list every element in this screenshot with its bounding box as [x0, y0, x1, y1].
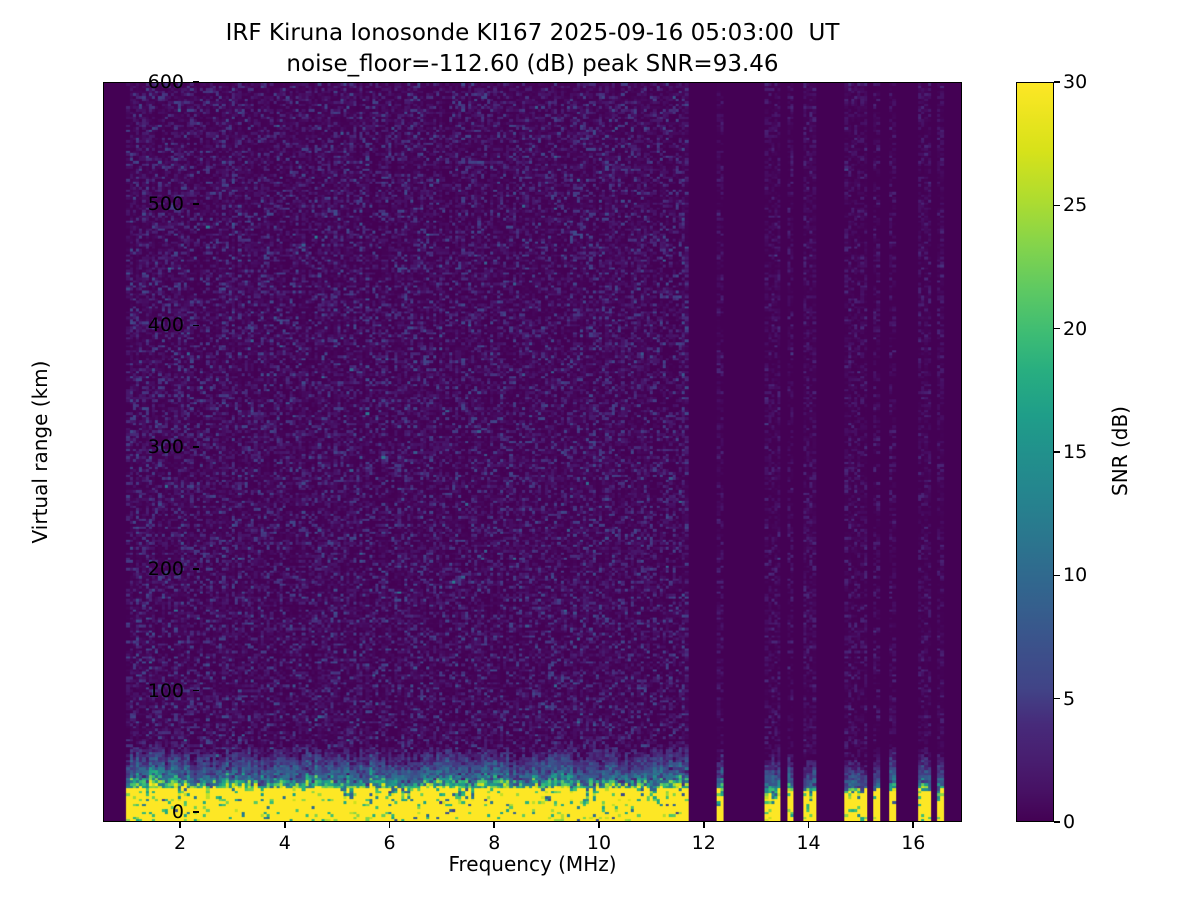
- colorbar-tick-mark: [1054, 81, 1060, 83]
- x-axis-label: Frequency (MHz): [103, 852, 962, 876]
- y-tick-label: 100: [148, 679, 184, 703]
- y-tick-mark: [193, 446, 199, 448]
- colorbar-tick-mark: [1054, 205, 1060, 207]
- colorbar-tick-label: 10: [1063, 563, 1087, 587]
- x-tick-mark: [179, 822, 181, 828]
- colorbar-label: SNR (dB): [1108, 406, 1132, 496]
- y-tick-mark: [193, 690, 199, 692]
- y-tick-mark: [193, 325, 199, 327]
- y-tick-mark: [193, 81, 199, 83]
- y-tick-mark: [193, 568, 199, 570]
- y-axis-label: Virtual range (km): [28, 361, 52, 544]
- y-tick-label: 200: [148, 557, 184, 581]
- y-tick-mark: [193, 203, 199, 205]
- x-tick-mark: [808, 822, 810, 828]
- y-tick-label: 300: [148, 435, 184, 459]
- x-tick-mark: [598, 822, 600, 828]
- colorbar-tick-label: 30: [1063, 70, 1087, 94]
- ionogram-figure: IRF Kiruna Ionosonde KI167 2025-09-16 05…: [0, 0, 1200, 900]
- colorbar-tick-mark: [1054, 698, 1060, 700]
- y-tick-label: 400: [148, 313, 184, 337]
- x-tick-mark: [389, 822, 391, 828]
- colorbar-tick-mark: [1054, 451, 1060, 453]
- x-tick-mark: [493, 822, 495, 828]
- x-tick-mark: [912, 822, 914, 828]
- colorbar-tick-label: 5: [1063, 687, 1075, 711]
- colorbar-tick-label: 25: [1063, 193, 1087, 217]
- ionogram-plot-area: [103, 82, 962, 822]
- x-tick-mark: [284, 822, 286, 828]
- colorbar: [1016, 82, 1054, 822]
- y-tick-label: 600: [148, 70, 184, 94]
- colorbar-tick-label: 0: [1063, 810, 1075, 834]
- title-line-1: IRF Kiruna Ionosonde KI167 2025-09-16 05…: [0, 18, 1065, 49]
- x-tick-mark: [703, 822, 705, 828]
- colorbar-tick-mark: [1054, 328, 1060, 330]
- y-tick-label: 500: [148, 192, 184, 216]
- colorbar-tick-label: 15: [1063, 440, 1087, 464]
- colorbar-tick-mark: [1054, 575, 1060, 577]
- colorbar-tick-label: 20: [1063, 317, 1087, 341]
- colorbar-tick-mark: [1054, 821, 1060, 823]
- y-tick-label: 0: [172, 800, 184, 824]
- ionogram-heatmap: [104, 83, 961, 821]
- y-tick-mark: [193, 811, 199, 813]
